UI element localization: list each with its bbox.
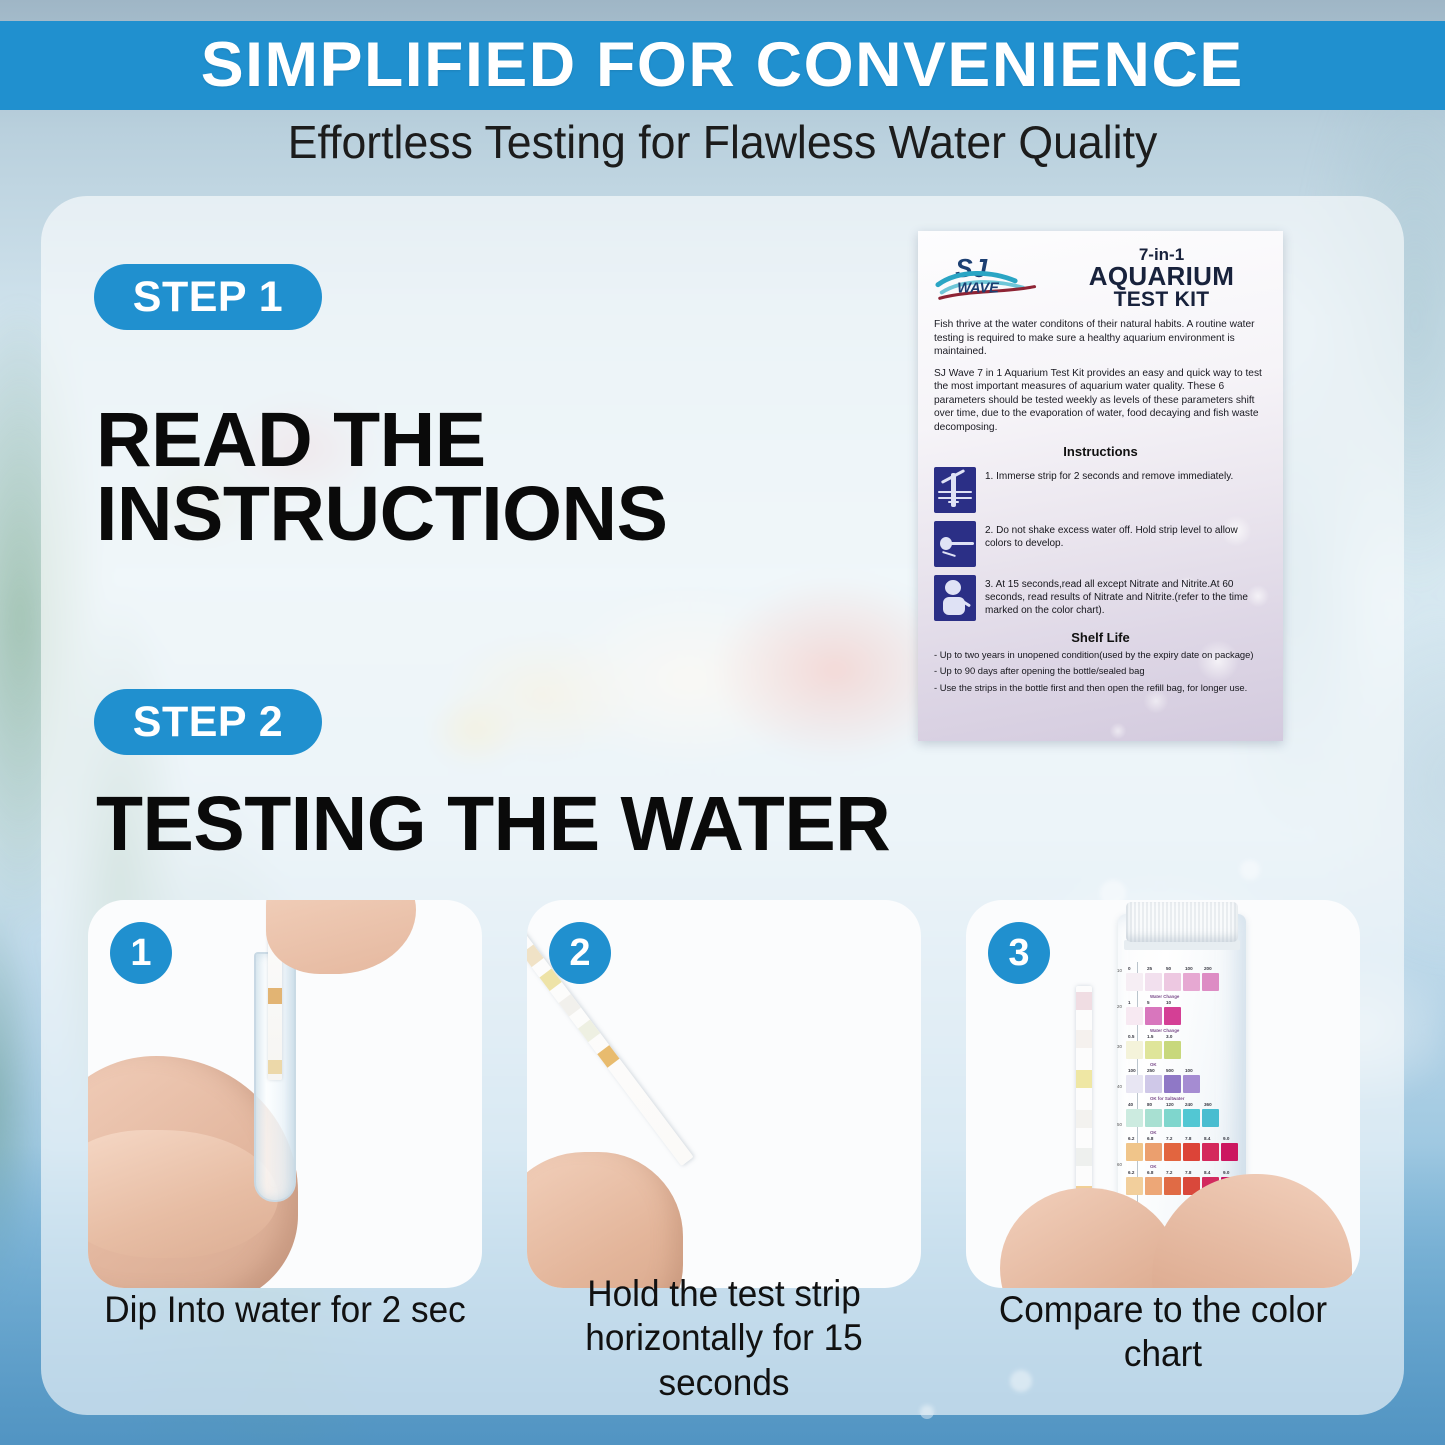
chart-swatch-label: 6.8 xyxy=(1147,1136,1153,1141)
immerse-strip-icon xyxy=(934,467,976,513)
chart-swatch-row xyxy=(1126,1109,1219,1127)
chart-swatch-label: 80 xyxy=(1147,1102,1152,1107)
banner-title: SIMPLIFIED FOR CONVENIENCE xyxy=(201,34,1244,97)
strip-pad xyxy=(578,1020,600,1043)
chart-swatch xyxy=(1126,1109,1143,1127)
leaflet-title-line3: TEST KIT xyxy=(1056,289,1267,310)
chart-swatch-label: 8.4 xyxy=(1204,1170,1210,1175)
color-comparison-chart: 02550100200Water Change1510Water Change0… xyxy=(1124,964,1242,1214)
shelf-item: - Up to 90 days after opening the bottle… xyxy=(934,665,1267,678)
photo-card-2-caption: Hold the test strip horizontally for 15 … xyxy=(537,1272,911,1405)
chart-swatch xyxy=(1145,1075,1162,1093)
leaflet-instructions-heading: Instructions xyxy=(934,444,1267,459)
strip-pad xyxy=(1076,1110,1092,1128)
chart-swatch-label: 7.2 xyxy=(1166,1136,1172,1141)
chart-swatch-label: 40 xyxy=(1128,1102,1133,1107)
hold-strip-level-icon xyxy=(934,521,976,567)
test-strip-pad xyxy=(268,1060,282,1074)
chart-swatch xyxy=(1164,1075,1181,1093)
chart-row-name: Water Change xyxy=(1150,994,1179,999)
chart-swatch-label: 250 xyxy=(1147,1068,1155,1073)
chart-swatch xyxy=(1145,973,1162,991)
leaflet-instruction-item: 1. Immerse strip for 2 seconds and remov… xyxy=(934,467,1267,513)
photo-card-2-number: 2 xyxy=(549,922,611,984)
chart-swatch xyxy=(1145,1143,1162,1161)
chart-swatch xyxy=(1183,1109,1200,1127)
photo-card-3-number: 3 xyxy=(988,922,1050,984)
chart-swatch xyxy=(1202,1109,1219,1127)
chart-swatch-label: 200 xyxy=(1204,966,1212,971)
chart-swatch xyxy=(1126,1007,1143,1025)
step-2-heading: TESTING THE WATER xyxy=(96,788,956,862)
strip-pad xyxy=(527,944,544,967)
chart-swatch-label: 7.8 xyxy=(1185,1170,1191,1175)
leaflet-title-line2: AQUARIUM xyxy=(1056,263,1267,289)
chart-swatch xyxy=(1183,973,1200,991)
instruction-text-2: 2. Do not shake excess water off. Hold s… xyxy=(985,521,1267,550)
strip-pad xyxy=(1076,1070,1092,1088)
leaflet-shelf-heading: Shelf Life xyxy=(934,630,1267,645)
chart-swatch-label: 10 xyxy=(1166,1000,1171,1005)
strip-pad xyxy=(1076,992,1092,1010)
strip-pad xyxy=(597,1045,619,1068)
chart-swatch-label: 6.2 xyxy=(1128,1170,1134,1175)
shelf-item: - Use the strips in the bottle first and… xyxy=(934,682,1267,695)
sj-wave-logo-icon: SJ WAVE xyxy=(934,247,1050,307)
chart-swatch-row xyxy=(1126,1007,1181,1025)
svg-text:WAVE: WAVE xyxy=(957,280,1000,296)
photo-card-1-caption: Dip Into water for 2 sec xyxy=(98,1288,472,1332)
chart-swatch-label: 7.2 xyxy=(1166,1170,1172,1175)
header-banner: SIMPLIFIED FOR CONVENIENCE xyxy=(0,21,1445,110)
chart-swatch xyxy=(1202,973,1219,991)
chart-swatch xyxy=(1202,1143,1219,1161)
strip-pad xyxy=(1076,1148,1092,1166)
chart-swatch-label: 100 xyxy=(1185,966,1193,971)
chart-swatch-label: 7.8 xyxy=(1185,1136,1191,1141)
chart-swatch-label: 6.2 xyxy=(1128,1136,1134,1141)
chart-swatch-row xyxy=(1126,1143,1238,1161)
hand-holding-strip xyxy=(266,900,416,974)
chart-swatch xyxy=(1164,1007,1181,1025)
chart-swatch xyxy=(1126,1075,1143,1093)
chart-swatch-label: 0 xyxy=(1128,966,1131,971)
chart-swatch xyxy=(1164,1177,1181,1195)
chart-swatch-label: 0.5 xyxy=(1128,1034,1134,1039)
chart-swatch-row xyxy=(1126,1075,1200,1093)
photo-card-hold-strip: 2 xyxy=(527,900,921,1288)
chart-swatch-label: 100 xyxy=(1185,1068,1193,1073)
chart-swatch-row xyxy=(1126,1041,1181,1059)
chart-row-name: OK xyxy=(1150,1130,1157,1135)
leaflet-title-line1: 7-in-1 xyxy=(1056,246,1267,263)
chart-swatch xyxy=(1126,973,1143,991)
strip-pad xyxy=(559,994,581,1017)
chart-swatch xyxy=(1145,1109,1162,1127)
leaflet-paragraph-1: Fish thrive at the water conditons of th… xyxy=(934,318,1267,359)
chart-swatch xyxy=(1145,1041,1162,1059)
leaflet-header: SJ WAVE 7-in-1 AQUARIUM TEST KIT xyxy=(934,245,1267,309)
photo-card-dip-strip: 1 xyxy=(88,900,482,1288)
shelf-item: - Up to two years in unopened condition(… xyxy=(934,649,1267,662)
chart-swatch-label: 3.0 xyxy=(1166,1034,1172,1039)
compare-chart-icon xyxy=(934,575,976,621)
chart-swatch xyxy=(1126,1177,1143,1195)
leaflet-instruction-item: 3. At 15 seconds,read all except Nitrate… xyxy=(934,575,1267,621)
chart-swatch xyxy=(1164,973,1181,991)
chart-swatch xyxy=(1164,1041,1181,1059)
chart-row-name: OK for Saltwater xyxy=(1150,1096,1184,1101)
chart-swatch-label: 5 xyxy=(1147,1000,1150,1005)
strip-pad xyxy=(1076,1030,1092,1048)
step-1-badge: STEP 1 xyxy=(94,264,322,330)
chart-swatch xyxy=(1145,1177,1162,1195)
chart-row-name: Water Change xyxy=(1150,1028,1179,1033)
leaflet-title-block: 7-in-1 AQUARIUM TEST KIT xyxy=(1056,245,1267,310)
chart-swatch-label: 100 xyxy=(1128,1068,1136,1073)
chart-swatch-label: 9.0 xyxy=(1223,1170,1229,1175)
chart-swatch xyxy=(1126,1041,1143,1059)
photo-card-3-caption: Compare to the color chart xyxy=(976,1288,1350,1377)
step-1-heading: READ THE INSTRUCTIONS xyxy=(96,404,856,552)
chart-swatch-label: 25 xyxy=(1147,966,1152,971)
photo-card-1-number: 1 xyxy=(110,922,172,984)
chart-swatch-label: 9.0 xyxy=(1223,1136,1229,1141)
chart-swatch xyxy=(1221,1143,1238,1161)
chart-swatch xyxy=(1183,1143,1200,1161)
leaflet-paragraph-2: SJ Wave 7 in 1 Aquarium Test Kit provide… xyxy=(934,367,1267,435)
chart-swatch-label: 360 xyxy=(1204,1102,1212,1107)
chart-swatch-label: 120 xyxy=(1166,1102,1174,1107)
chart-swatch xyxy=(1126,1143,1143,1161)
thumb-holding-strip xyxy=(527,1152,683,1288)
chart-swatch-label: 500 xyxy=(1166,1068,1174,1073)
instruction-text-3: 3. At 15 seconds,read all except Nitrate… xyxy=(985,575,1267,618)
instruction-leaflet: SJ WAVE 7-in-1 AQUARIUM TEST KIT Fish th… xyxy=(918,231,1283,741)
chart-swatch-label: 8.4 xyxy=(1204,1136,1210,1141)
chart-swatch-label: 50 xyxy=(1166,966,1171,971)
chart-swatch-label: 1 xyxy=(1128,1000,1131,1005)
step-2-badge: STEP 2 xyxy=(94,689,322,755)
banner-subtitle: Effortless Testing for Flawless Water Qu… xyxy=(22,118,1424,166)
chart-swatch-label: 240 xyxy=(1185,1102,1193,1107)
test-strip-pad xyxy=(268,988,282,1004)
chart-swatch-row xyxy=(1126,973,1219,991)
chart-swatch xyxy=(1183,1075,1200,1093)
photo-card-compare-chart: 3 10 20 30 40 50 60 70 02550100200Water … xyxy=(966,900,1360,1288)
svg-text:SJ: SJ xyxy=(955,253,987,283)
chart-swatch-label: 1.5 xyxy=(1147,1034,1153,1039)
chart-row-name: OK xyxy=(1150,1164,1157,1169)
chart-row-name: OK xyxy=(1150,1062,1157,1067)
bottle-cap xyxy=(1126,902,1238,942)
chart-swatch xyxy=(1164,1109,1181,1127)
leaflet-instruction-item: 2. Do not shake excess water off. Hold s… xyxy=(934,521,1267,567)
instruction-text-1: 1. Immerse strip for 2 seconds and remov… xyxy=(985,467,1233,483)
chart-swatch-label: 6.8 xyxy=(1147,1170,1153,1175)
chart-swatch xyxy=(1164,1143,1181,1161)
leaflet-shelf-list: - Up to two years in unopened condition(… xyxy=(934,649,1267,695)
chart-swatch xyxy=(1145,1007,1162,1025)
